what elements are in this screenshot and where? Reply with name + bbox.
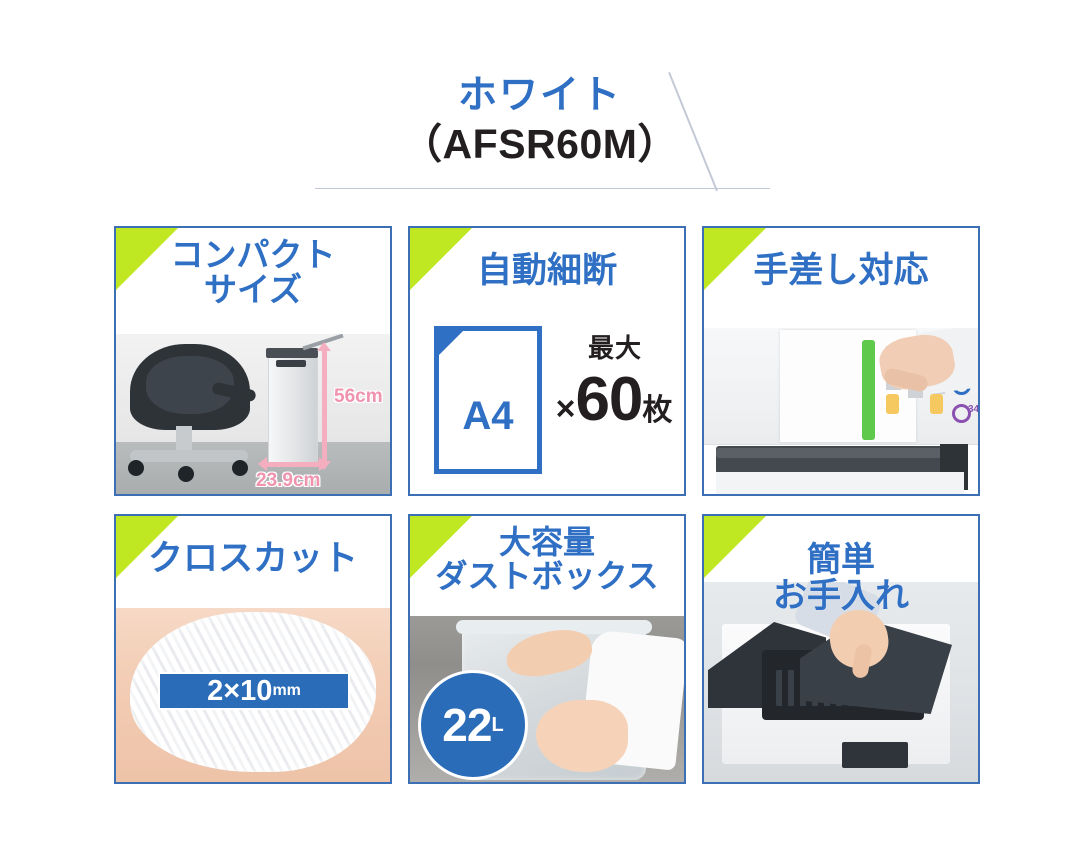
capacity-badge-value: 22 [442, 698, 491, 752]
card-title-line2: サイズ [116, 273, 390, 308]
header-banner: ホワイト （AFSR60M） [0, 0, 1080, 205]
capacity-unit: 枚 [642, 394, 672, 427]
capacity-value: ×60枚 [546, 364, 682, 435]
card-title-compact-size: コンパクト サイズ [116, 228, 390, 308]
feature-card-auto-shred[interactable]: 自動細断 A4 最大 ×60枚 [408, 226, 686, 496]
page-title: ホワイト （AFSR60M） [0, 76, 1080, 166]
feature-card-large-dust-box[interactable]: 大容量 ダストボックス 22L [408, 514, 686, 784]
capacity-badge: 22L [418, 670, 528, 780]
card-title-easy-maintenance: 簡単 お手入れ [704, 516, 978, 614]
card-title-line2: ダストボックス [410, 560, 684, 594]
shredder-body [268, 352, 318, 464]
banner-horizontal-rule [315, 188, 770, 189]
card-graphic-a4-capacity: A4 最大 ×60枚 [410, 316, 684, 494]
card-title-line1: 大容量 [410, 526, 684, 560]
capacity-badge-unit: L [491, 714, 503, 737]
width-dimension-label: 23.9cm [256, 470, 320, 492]
height-dimension-arrow-icon [322, 350, 327, 462]
card-title-line2: お手入れ [704, 578, 978, 614]
chart-percent-label: 34% [968, 404, 978, 415]
feature-card-manual-feed[interactable]: 手差し対応 23% 47% 34% [702, 226, 980, 496]
a4-sheet-label: A4 [434, 394, 542, 439]
card-photo-hand-feeding-document: 23% 47% 34% [704, 328, 978, 494]
card-title-line1: 手差し対応 [704, 252, 978, 289]
card-title-line1: クロスカット [116, 540, 390, 577]
feature-card-grid: コンパクト サイズ 56cm 23.9cm 自動細断 [114, 226, 980, 784]
hand [536, 700, 628, 772]
card-title-line1: 簡単 [704, 542, 978, 578]
capacity-number: 60 [575, 365, 642, 434]
cut-size-badge: 2×10mm [158, 672, 350, 710]
feature-card-compact-size[interactable]: コンパクト サイズ 56cm 23.9cm [114, 226, 392, 496]
card-photo-shredded-paper: 2×10mm [116, 608, 390, 782]
card-title-large-dust-box: 大容量 ダストボックス [410, 516, 684, 594]
capacity-multiplier: × [556, 390, 576, 428]
card-title-auto-shred: 自動細断 [410, 228, 684, 289]
feature-card-easy-maintenance[interactable]: 簡単 お手入れ [702, 514, 980, 784]
product-model-number: （AFSR60M） [0, 123, 1080, 166]
card-title-line1: 自動細断 [410, 252, 684, 289]
card-title-manual-feed: 手差し対応 [704, 228, 978, 289]
width-dimension-arrow-icon [266, 462, 320, 467]
card-title-line1: コンパクト [116, 238, 390, 273]
cut-size-unit: mm [272, 682, 300, 700]
product-color-name: ホワイト [0, 76, 1080, 117]
card-photo-shredder-beside-chair: 56cm 23.9cm [116, 334, 390, 494]
card-title-cross-cut: クロスカット [116, 516, 390, 577]
cut-size-value: 2×10 [207, 675, 272, 708]
feature-card-cross-cut[interactable]: クロスカット 2×10mm [114, 514, 392, 784]
card-photo-dust-box: 22L [410, 616, 684, 782]
height-dimension-label: 56cm [334, 386, 383, 408]
page-fold-icon [434, 326, 468, 360]
capacity-prefix-label: 最大 [550, 328, 680, 365]
